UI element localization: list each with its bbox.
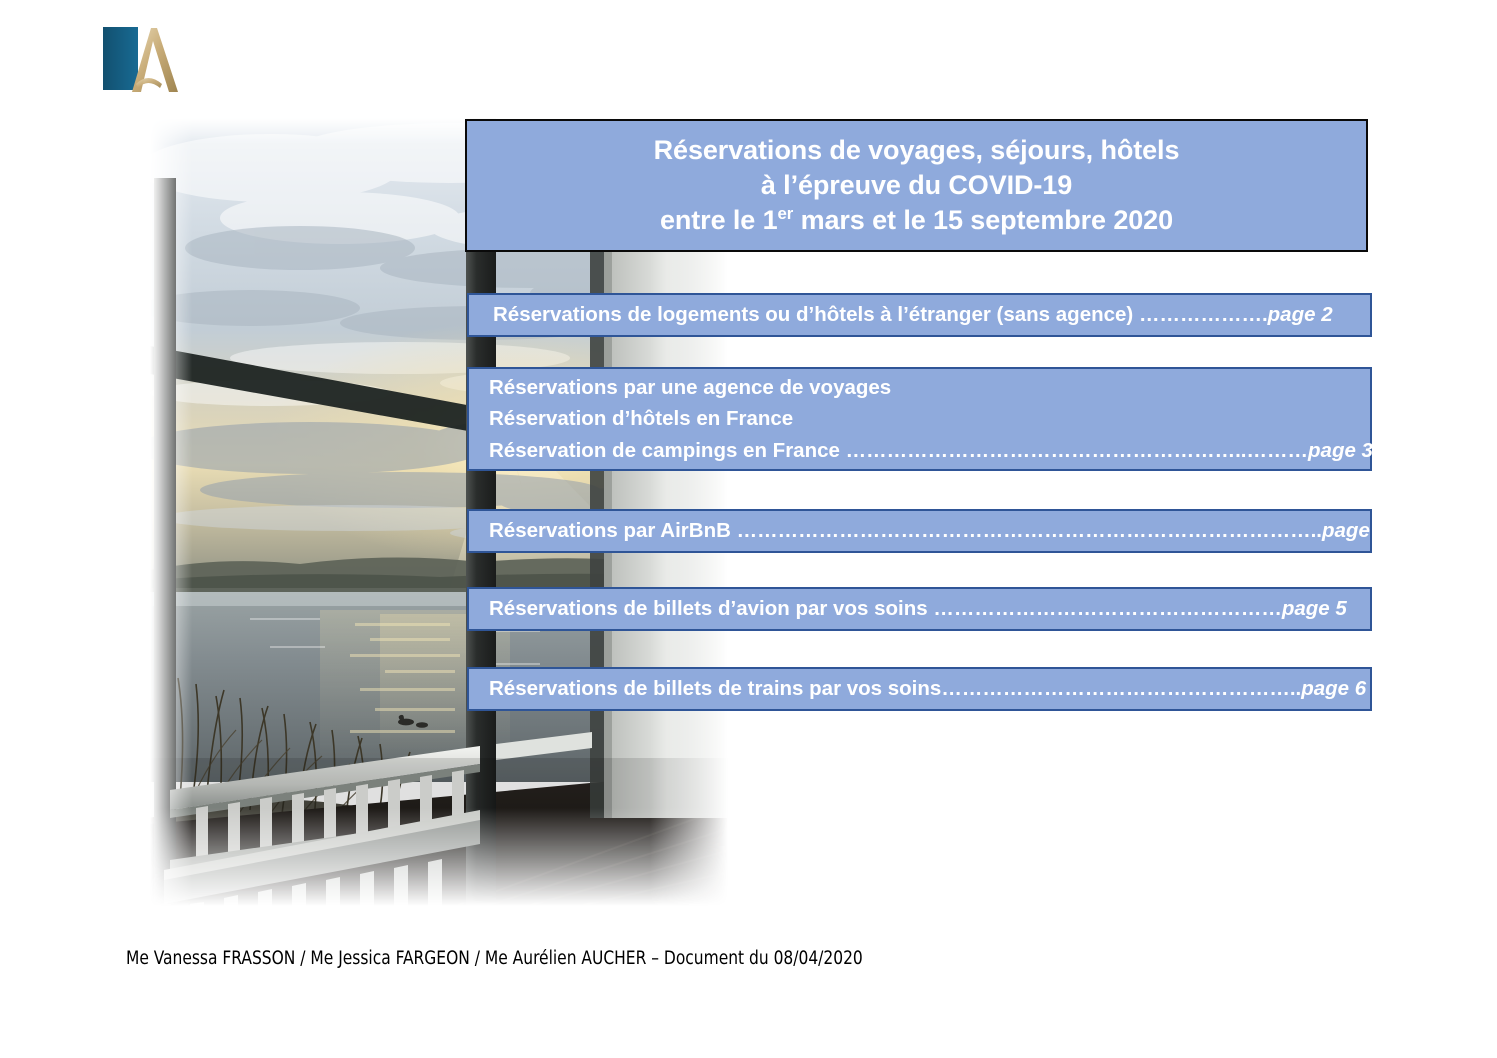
toc-entry-page-5[interactable]: Réservations de billets d’avion par vos … [467,587,1372,631]
toc-label: Réservations par AirBnB [489,519,737,542]
toc-line: Réservations de billets de trains par vo… [489,673,1362,704]
toc-label: Réservations de billets de trains par vo… [489,677,941,700]
toc-leader-dots: …………………………………………….. [941,677,1301,700]
toc-leader-dots: ………………………………………………………………………….. [737,519,1322,542]
toc-line: Réservations par une agence de voyages [489,372,1362,403]
firm-logo [100,22,200,102]
toc-label: Réservation de campings en France [489,439,846,462]
toc-page-ref: page 6 [1301,677,1366,700]
toc-leader-dots: …………………………………………… [933,597,1282,620]
toc-label: Réservation d’hôtels en France [489,407,793,430]
title-box: Réservations de voyages, séjours, hôtels… [465,119,1368,252]
title-line-3-superscript: er [778,204,794,223]
toc-line: Réservation d’hôtels en France [489,403,1362,434]
title-line-3: entre le 1er mars et le 15 septembre 202… [660,203,1173,238]
toc-page-ref: page 5 [1282,597,1347,620]
toc-line: Réservations de billets d’avion par vos … [489,593,1362,624]
toc-line: Réservation de campings en France ………………… [489,435,1362,466]
toc-line: Réservations de logements ou d’hôtels à … [493,299,1362,330]
toc-page-ref: page 2 [1268,303,1333,326]
toc-entry-page-2[interactable]: Réservations de logements ou d’hôtels à … [467,293,1372,337]
title-line-3-prefix: entre le 1 [660,205,778,235]
title-line-3-suffix: mars et le 15 septembre 2020 [793,205,1173,235]
toc-line: Réservations par AirBnB …………………………………………… [489,515,1362,546]
toc-page-ref: page 3 [1308,439,1373,462]
toc-leader-dots: ………………. [1139,303,1268,326]
title-line-1: Réservations de voyages, séjours, hôtels [654,133,1180,168]
toc-label: Réservations de logements ou d’hôtels à … [493,303,1139,326]
toc-page-ref: page 4 [1322,519,1387,542]
footer-credits: Me Vanessa FRASSON / Me Jessica FARGEON … [126,948,863,969]
toc-entry-page-3[interactable]: Réservations par une agence de voyages R… [467,367,1372,471]
title-line-2: à l’épreuve du COVID-19 [761,168,1072,203]
toc-label: Réservations de billets d’avion par vos … [489,597,933,620]
toc-leader-dots: …………………………………………………..……… [846,439,1308,462]
toc-entry-page-6[interactable]: Réservations de billets de trains par vo… [467,667,1372,711]
monogram-a-icon [100,22,200,102]
toc-label: Réservations par une agence de voyages [489,376,891,399]
toc-entry-page-4[interactable]: Réservations par AirBnB …………………………………………… [467,509,1372,553]
